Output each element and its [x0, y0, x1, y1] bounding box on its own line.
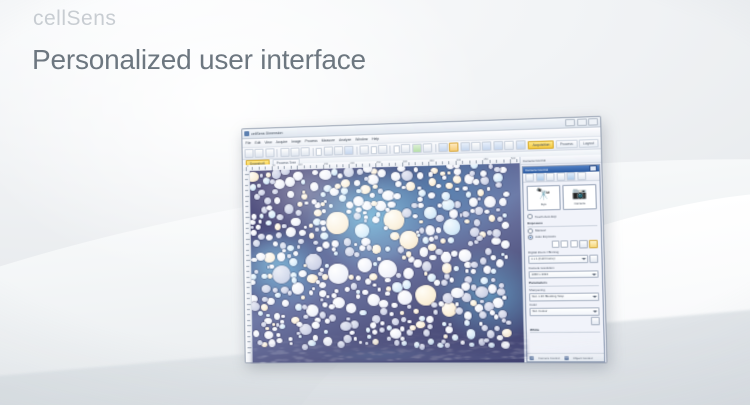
slide-stage: cellSens Personalized user interface cel…	[0, 0, 750, 405]
background-vignette	[0, 0, 750, 405]
